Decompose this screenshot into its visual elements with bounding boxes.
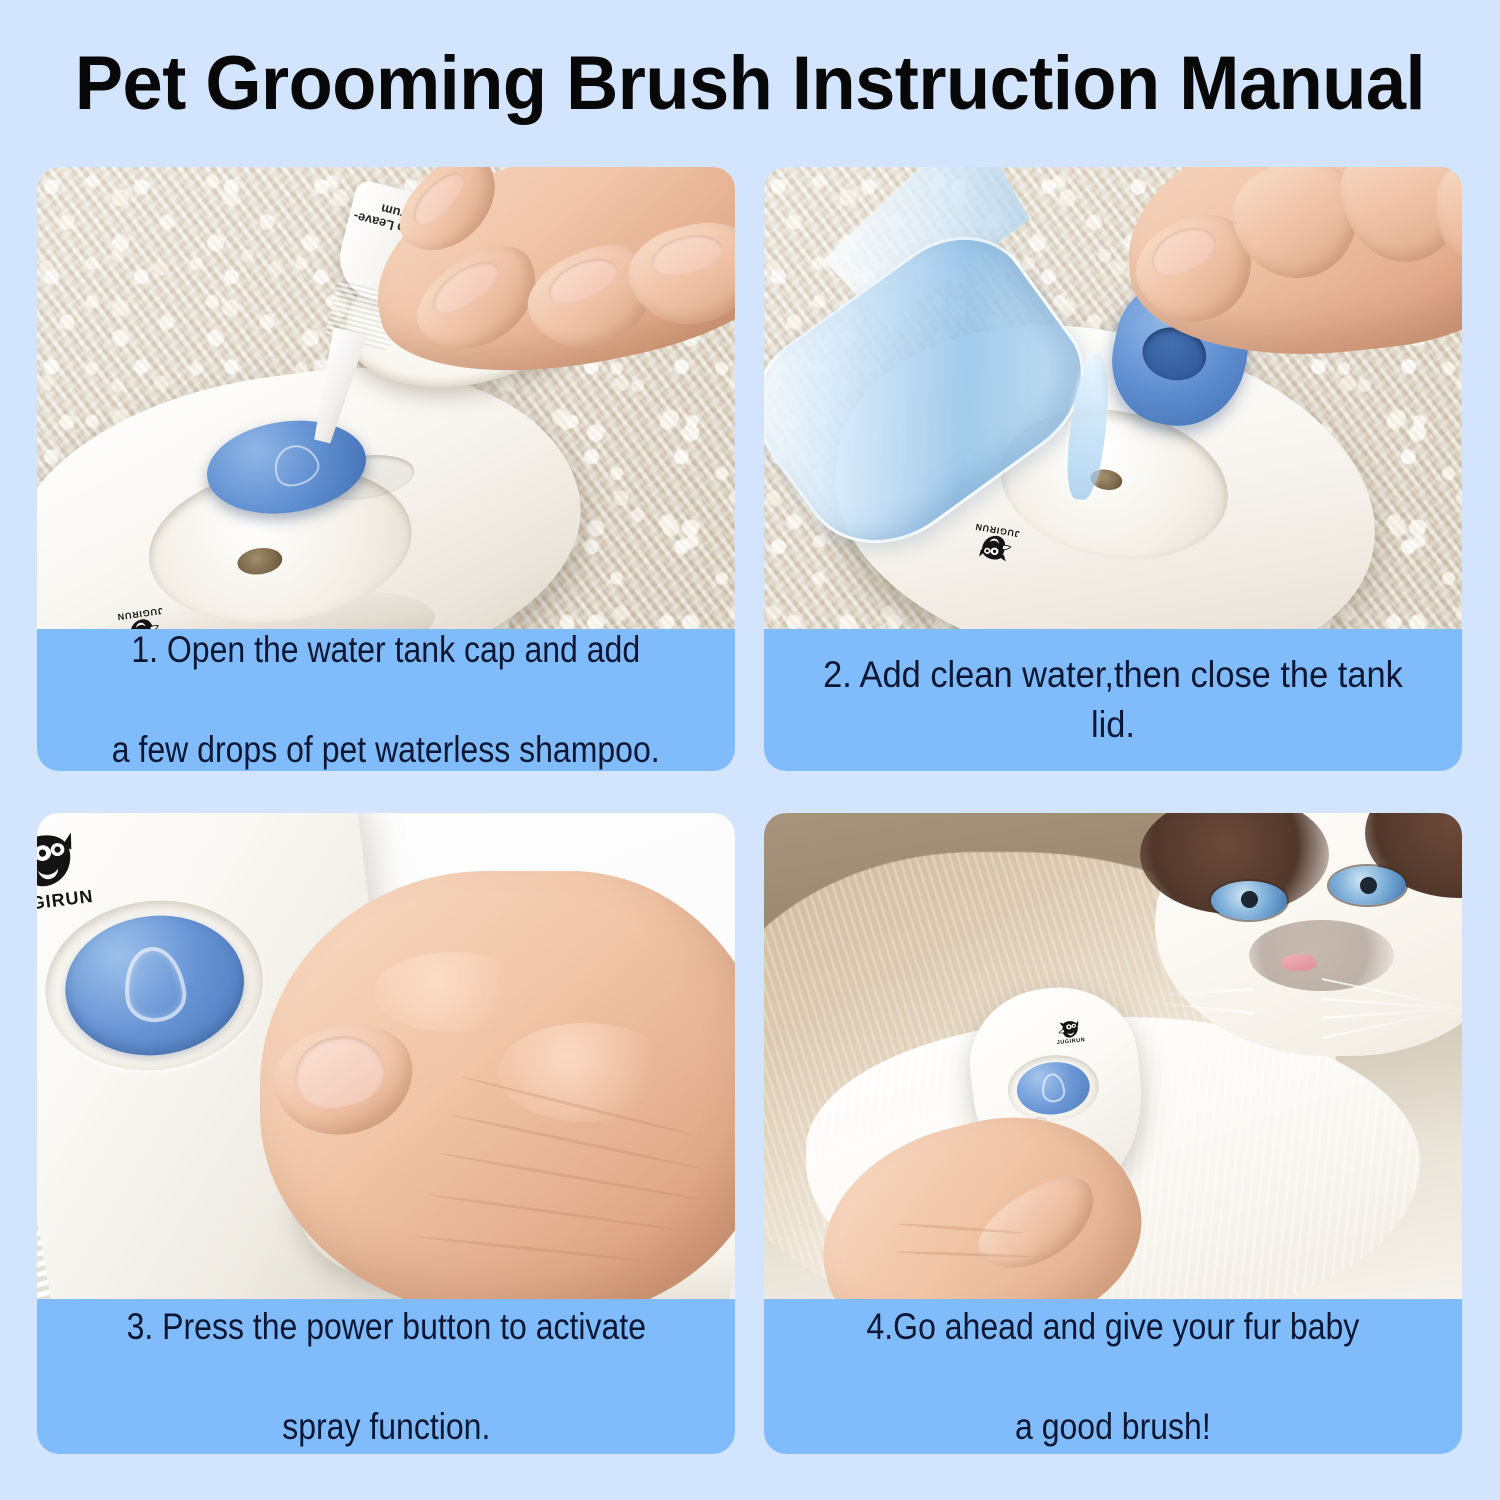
step-4-caption-line-1: 4.Go ahead and give your fur baby xyxy=(867,1302,1360,1352)
step-2-photo: JUGIRUN xyxy=(764,167,1462,629)
step-card-4: JUGIRUN 4 xyxy=(764,813,1462,1454)
cat-eye-left xyxy=(1211,881,1288,920)
thumbnail xyxy=(288,1028,390,1116)
steps-grid: JUGIRUN Pet Comb Leave-in Serum xyxy=(37,167,1464,1454)
fingernail xyxy=(542,249,623,311)
step-1-caption-line-1: 1. Open the water tank cap and add xyxy=(112,625,660,675)
step-2-caption-line-1: 2. Add clean water,then close the tank l… xyxy=(805,650,1421,750)
step-2-caption: 2. Add clean water,then close the tank l… xyxy=(764,629,1462,771)
step-card-3: JUGIRUN xyxy=(37,813,735,1454)
step-card-1: JUGIRUN Pet Comb Leave-in Serum xyxy=(37,167,735,771)
power-button[interactable] xyxy=(57,906,252,1065)
step-4-photo: JUGIRUN xyxy=(764,813,1462,1299)
brand-logo: JUGIRUN xyxy=(1055,1019,1086,1046)
fingernail xyxy=(424,251,505,321)
serum-bottle-nozzle xyxy=(306,328,367,447)
step-4-caption-line-2: a good brush! xyxy=(867,1402,1360,1452)
power-button-recess xyxy=(1005,1051,1102,1125)
dog-head-icon xyxy=(1057,1019,1084,1040)
step-1-caption: 1. Open the water tank cap and add a few… xyxy=(37,629,735,771)
brand-name: JUGIRUN xyxy=(974,522,1020,539)
water-drop-icon xyxy=(1041,1073,1067,1103)
instruction-manual-page: Pet Grooming Brush Instruction Manual xyxy=(0,0,1500,1500)
knuckle xyxy=(374,952,529,1032)
brand-name: JUGIRUN xyxy=(37,886,95,915)
brand-logo: JUGIRUN xyxy=(37,827,95,915)
step-3-photo: JUGIRUN xyxy=(37,813,735,1299)
power-button[interactable] xyxy=(1015,1059,1092,1119)
fingernail xyxy=(647,227,727,281)
dog-head-icon xyxy=(973,531,1014,564)
brand-logo: JUGIRUN xyxy=(969,522,1020,565)
dog-head-icon xyxy=(37,827,88,894)
water-drop-icon xyxy=(268,439,325,493)
skin-crease xyxy=(427,1193,683,1232)
skin-crease xyxy=(416,1235,642,1262)
step-1-photo: JUGIRUN Pet Comb Leave-in Serum xyxy=(37,167,735,629)
thumbnail xyxy=(1144,218,1223,284)
step-card-2: JUGIRUN xyxy=(764,167,1462,771)
step-1-caption-line-2: a few drops of pet waterless shampoo. xyxy=(112,725,660,771)
step-4-caption: 4.Go ahead and give your fur baby a good… xyxy=(764,1299,1462,1454)
power-button-recess xyxy=(37,888,273,1082)
step-3-caption-line-1: 3. Press the power button to activate xyxy=(126,1302,645,1352)
cat-nose xyxy=(1281,954,1317,971)
step-3-caption: 3. Press the power button to activate sp… xyxy=(37,1299,735,1454)
brush-teeth xyxy=(37,1065,58,1299)
finger xyxy=(966,1162,1111,1288)
water-drop-icon xyxy=(120,943,190,1025)
brand-name: JUGIRUN xyxy=(1057,1038,1086,1046)
water-tank-hole xyxy=(236,545,284,577)
step-3-caption-line-2: spray function. xyxy=(126,1402,645,1452)
page-title: Pet Grooming Brush Instruction Manual xyxy=(38,38,1463,130)
